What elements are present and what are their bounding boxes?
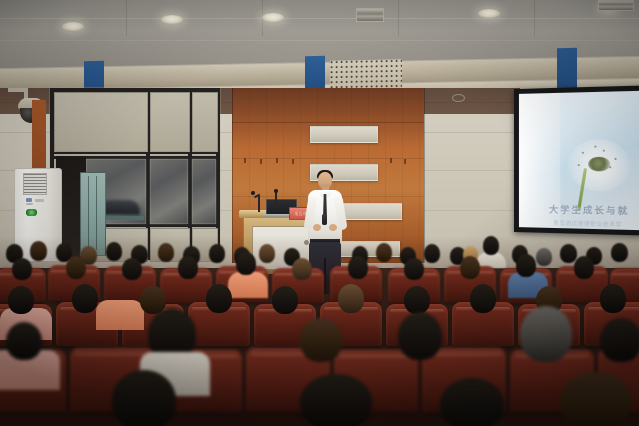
acoustic-panel xyxy=(340,203,402,220)
ac-label xyxy=(35,199,44,202)
wall-hook xyxy=(452,94,465,102)
microphone-head xyxy=(251,191,255,195)
ac-vent-grille xyxy=(23,173,47,195)
ac-label xyxy=(26,203,33,205)
booth-window xyxy=(150,159,188,224)
microphone-stand xyxy=(258,196,260,212)
booth-upper-panel xyxy=(150,92,190,152)
dandelion-core xyxy=(588,157,610,172)
ceiling-downlight xyxy=(62,22,84,31)
booth-upper-panel xyxy=(54,92,148,152)
ceiling-downlight xyxy=(262,13,284,22)
projection-screen-frame: 大学生成长与就 青岛酒店管理职业技术学 xyxy=(514,86,639,236)
microphone-stand xyxy=(275,192,277,202)
lecture-hall-photo: 大学生成长与就 青岛酒店管理职业技术学 报告席 xyxy=(0,0,639,426)
ac-button[interactable] xyxy=(26,198,32,202)
ceiling-air-vent xyxy=(356,8,384,22)
ac-display xyxy=(26,209,37,216)
ceiling-downlight xyxy=(478,9,500,18)
microphone-head xyxy=(274,189,278,193)
speaker-right-hand xyxy=(329,224,337,231)
speaker-left-hand xyxy=(313,224,321,231)
slide-title: 大学生成长与就 xyxy=(549,203,629,218)
booth-window xyxy=(192,159,216,224)
acoustic-panel xyxy=(310,126,378,143)
presentation-clicker xyxy=(322,214,327,225)
booth-upper-panel xyxy=(192,92,218,152)
projection-screen: 大学生成长与就 青岛酒店管理职业技术学 xyxy=(519,91,639,230)
slide-subtitle: 青岛酒店管理职业技术学 xyxy=(553,219,622,229)
ceiling-downlight xyxy=(161,15,183,24)
reflected-vehicle xyxy=(100,200,140,215)
ceiling-air-vent xyxy=(598,0,634,11)
